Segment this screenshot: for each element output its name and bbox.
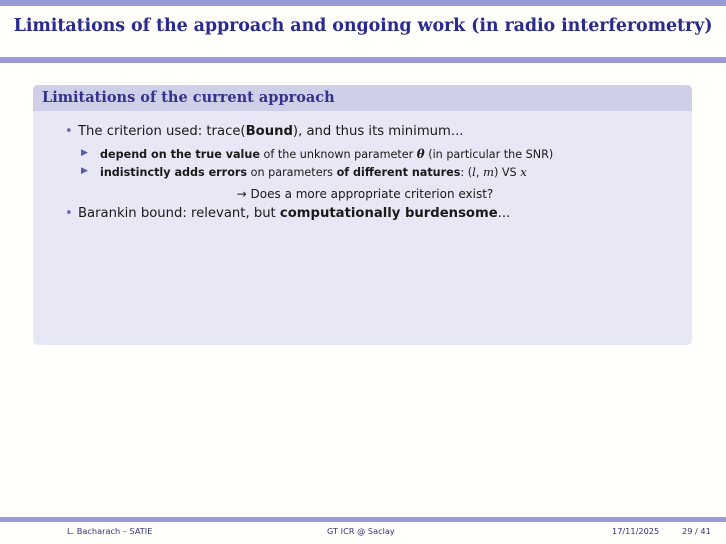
footer-date: 17/11/2025 xyxy=(612,526,659,536)
bullet-text: Barankin bound: relevant, but computatio… xyxy=(78,206,510,221)
sub-bullet-text-segment: x xyxy=(520,165,527,179)
triangle-right-icon: ▶ xyxy=(81,146,88,161)
footer-event: GT ICR @ Saclay xyxy=(327,526,395,536)
sub-bullet-text-segment: indistinctly adds errors xyxy=(100,166,247,179)
sub-bullet-text: indistinctly adds errors on parameters o… xyxy=(100,166,527,179)
slide-title: Limitations of the approach and ongoing … xyxy=(0,16,726,36)
footer-author: L. Bacharach – SATIE xyxy=(67,526,152,536)
sub-bullet-text-segment: of the unknown parameter xyxy=(260,148,417,161)
footer: L. Bacharach – SATIE GT ICR @ Saclay 17/… xyxy=(0,522,726,539)
sub-bullet-text-segment: ) VS xyxy=(494,166,520,179)
bullet-item: •Barankin bound: relevant, but computati… xyxy=(33,205,692,224)
block-title: Limitations of the current approach xyxy=(33,85,692,111)
sub-bullet-text-segment: of different natures xyxy=(337,166,461,179)
sub-bullet-text-segment: , xyxy=(476,166,483,179)
header-rule-bottom xyxy=(0,57,726,63)
content-block: Limitations of the current approach •The… xyxy=(33,85,692,345)
block-body: •The criterion used: trace(Bound), and t… xyxy=(33,123,692,345)
bullet-dot-icon: • xyxy=(65,123,73,141)
bullet-list-level1: •The criterion used: trace(Bound), and t… xyxy=(33,123,692,224)
bullet-item: •The criterion used: trace(Bound), and t… xyxy=(33,123,692,203)
arrow-right-icon: → xyxy=(237,187,251,201)
sub-bullet-text: depend on the true value of the unknown … xyxy=(100,148,553,161)
bullet-dot-icon: • xyxy=(65,205,73,223)
sub-bullet-text-segment: : ( xyxy=(460,166,472,179)
sub-bullet-text-segment: on parameters xyxy=(247,166,337,179)
sub-bullet-item: ▶indistinctly adds errors on parameters … xyxy=(78,164,692,182)
bullet-text-segment: Barankin bound: relevant, but xyxy=(78,206,280,221)
bullet-text-segment: Bound xyxy=(246,124,293,139)
sub-bullet-text-segment: depend on the true value xyxy=(100,148,260,161)
sub-bullet-item: ▶depend on the true value of the unknown… xyxy=(78,146,692,164)
triangle-right-icon: ▶ xyxy=(81,164,88,179)
bullet-text: The criterion used: trace(Bound), and th… xyxy=(78,124,463,139)
sub-bullet-text-segment: (in particular the SNR) xyxy=(425,148,554,161)
bullet-text-segment: The criterion used: trace( xyxy=(78,124,246,139)
conclusion-text: Does a more appropriate criterion exist? xyxy=(251,187,494,201)
conclusion-line: → Does a more appropriate criterion exis… xyxy=(38,185,692,203)
sub-bullet-text-segment: θ xyxy=(417,147,425,161)
footer-page-number: 29 / 41 xyxy=(682,526,711,536)
bullet-text-segment: ), and thus its minimum... xyxy=(293,124,464,139)
bullet-text-segment: ... xyxy=(498,206,511,221)
header-rule-top xyxy=(0,0,726,6)
bullet-list-level2: ▶depend on the true value of the unknown… xyxy=(78,146,692,182)
sub-bullet-text-segment: m xyxy=(483,165,494,179)
bullet-text-segment: computationally burdensome xyxy=(280,206,498,221)
